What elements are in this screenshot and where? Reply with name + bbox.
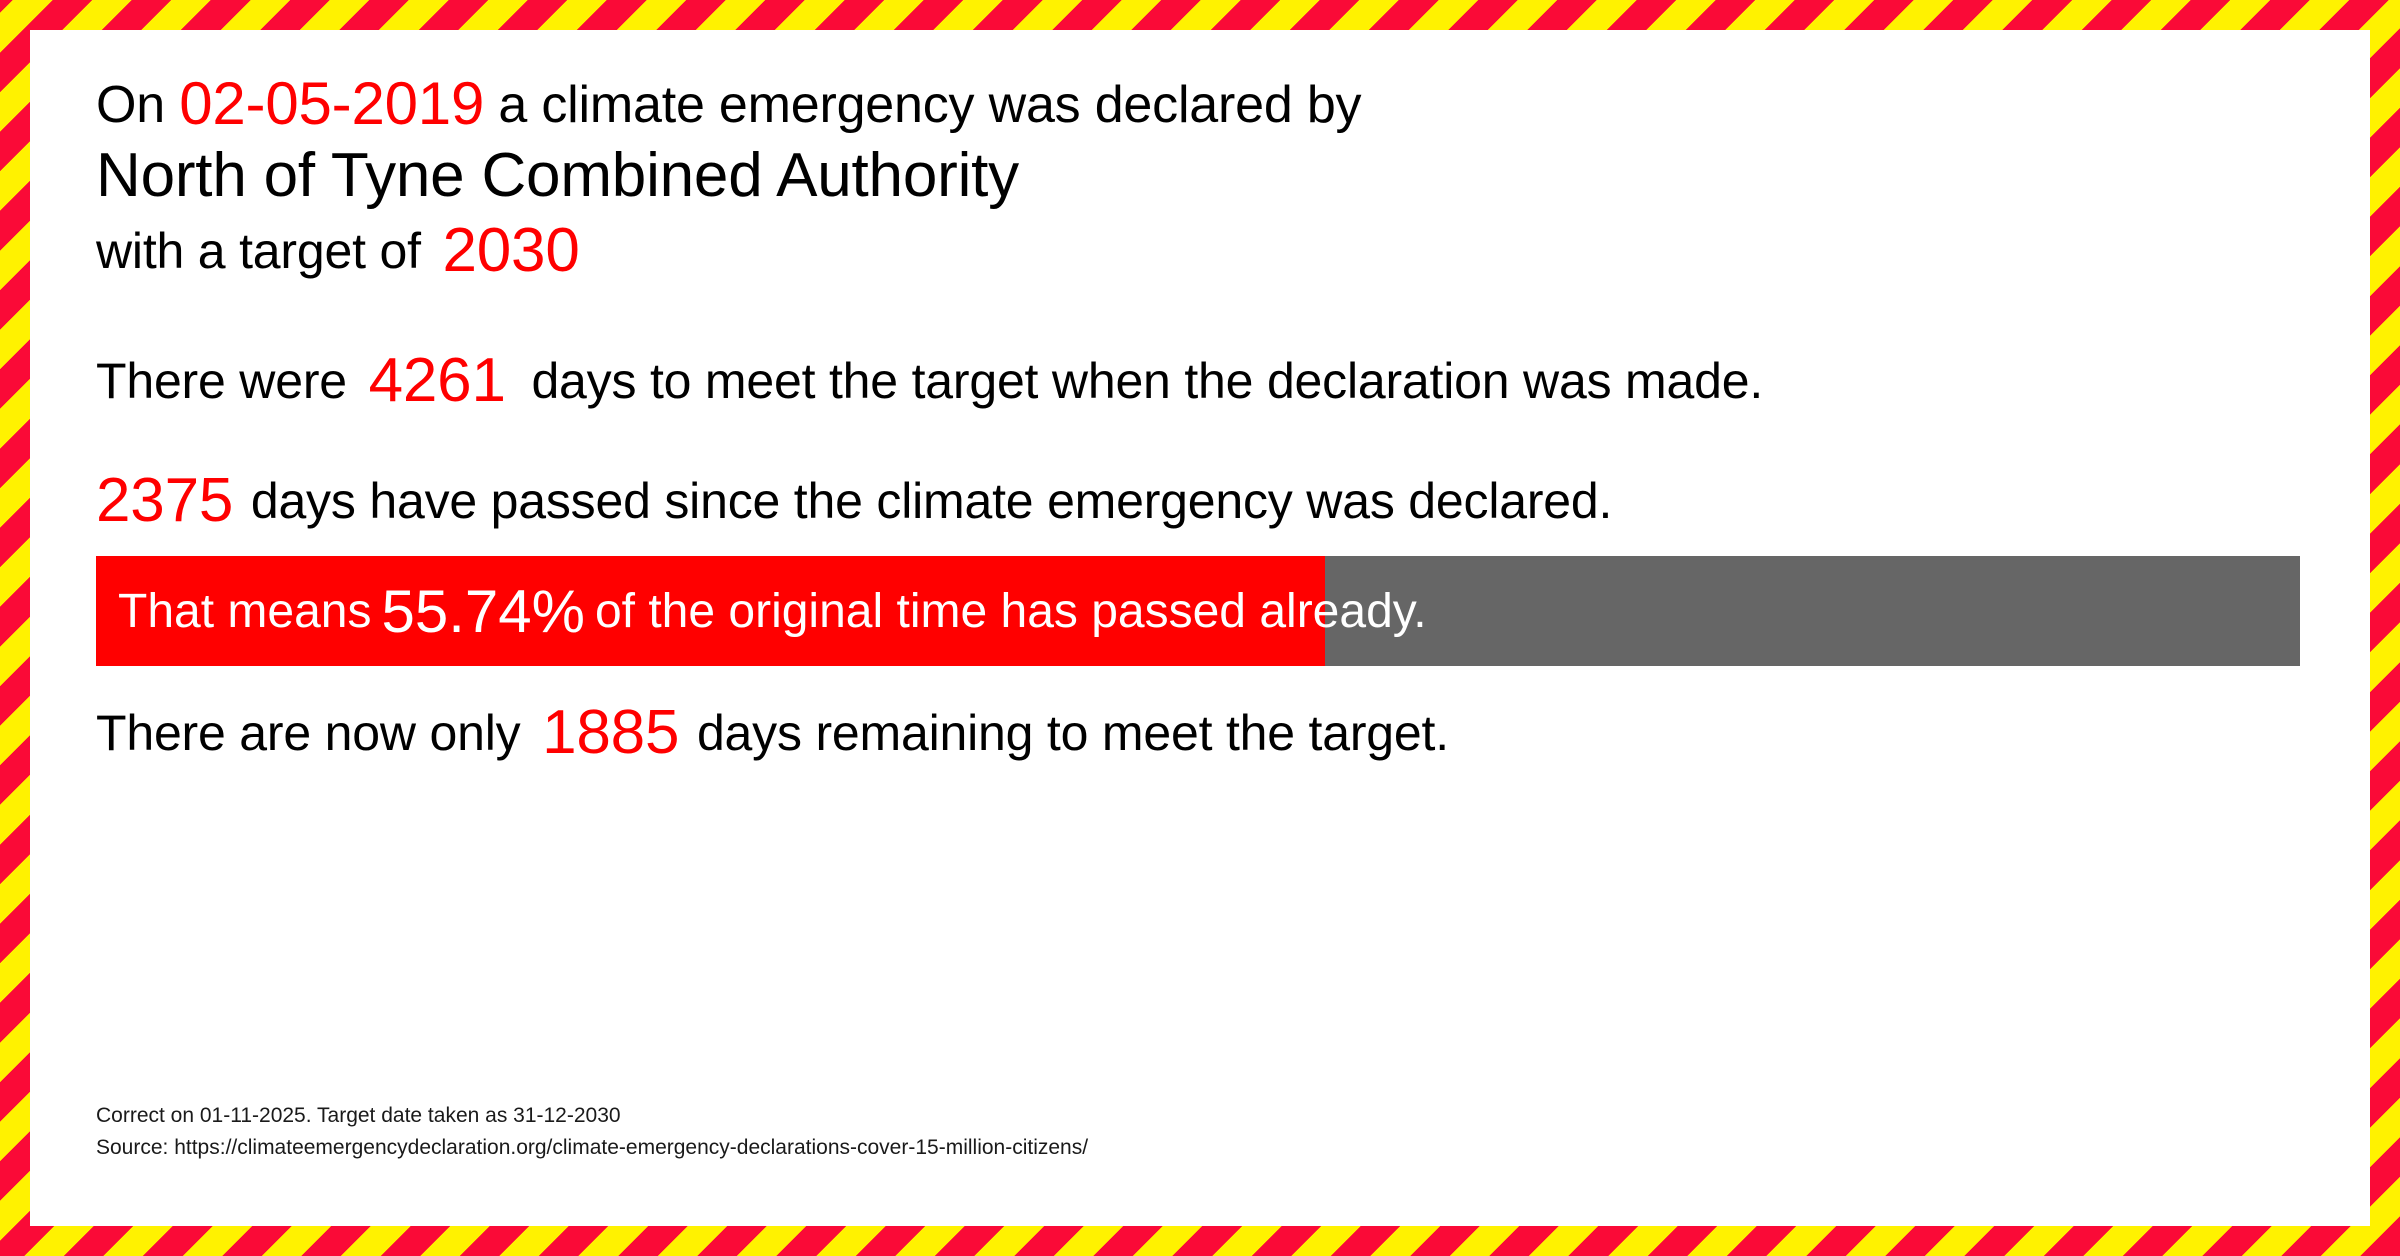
original-days-suffix: days to meet the target when the declara… <box>531 353 1763 409</box>
elapsed-days-line: 2375 days have passed since the climate … <box>96 470 2304 532</box>
original-days-prefix: There were <box>96 353 347 409</box>
progress-percent: 55.74% <box>371 577 595 646</box>
authority-name: North of Tyne Combined Authority <box>96 137 2304 215</box>
remaining-days-suffix: days remaining to meet the target. <box>697 705 1449 761</box>
remaining-days-prefix: There are now only <box>96 705 520 761</box>
poster-card: On 02-05-2019 a climate emergency was de… <box>30 30 2370 1226</box>
progress-prefix: That means <box>118 584 371 639</box>
declaration-suffix: a climate emergency was declared by <box>498 76 1361 134</box>
elapsed-days-suffix: days have passed since the climate emerg… <box>251 473 1612 529</box>
time-progress-label: That means 55.74% of the original time h… <box>96 556 2300 666</box>
target-year: 2030 <box>434 216 579 285</box>
hazard-border-frame: On 02-05-2019 a climate emergency was de… <box>0 0 2400 1256</box>
declaration-date: 02-05-2019 <box>179 70 484 137</box>
footer-source: Source: https://climateemergencydeclarat… <box>96 1132 1088 1164</box>
original-days-line: There were 4261 days to meet the target … <box>96 350 2304 412</box>
time-progress-bar: That means 55.74% of the original time h… <box>96 556 2300 666</box>
target-line: with a target of 2030 <box>96 215 2304 287</box>
target-prefix: with a target of <box>96 223 421 279</box>
remaining-days-value: 1885 <box>534 698 683 767</box>
remaining-days-line: There are now only 1885 days remaining t… <box>96 702 2304 764</box>
elapsed-days-value: 2375 <box>96 466 237 535</box>
footer-correct-on: Correct on 01-11-2025. Target date taken… <box>96 1100 1088 1132</box>
declaration-prefix: On <box>96 76 165 134</box>
original-days-value: 4261 <box>361 346 518 415</box>
progress-suffix: of the original time has passed already. <box>595 584 1427 639</box>
declaration-line: On 02-05-2019 a climate emergency was de… <box>96 72 2304 137</box>
footer-note: Correct on 01-11-2025. Target date taken… <box>96 1100 1088 1164</box>
